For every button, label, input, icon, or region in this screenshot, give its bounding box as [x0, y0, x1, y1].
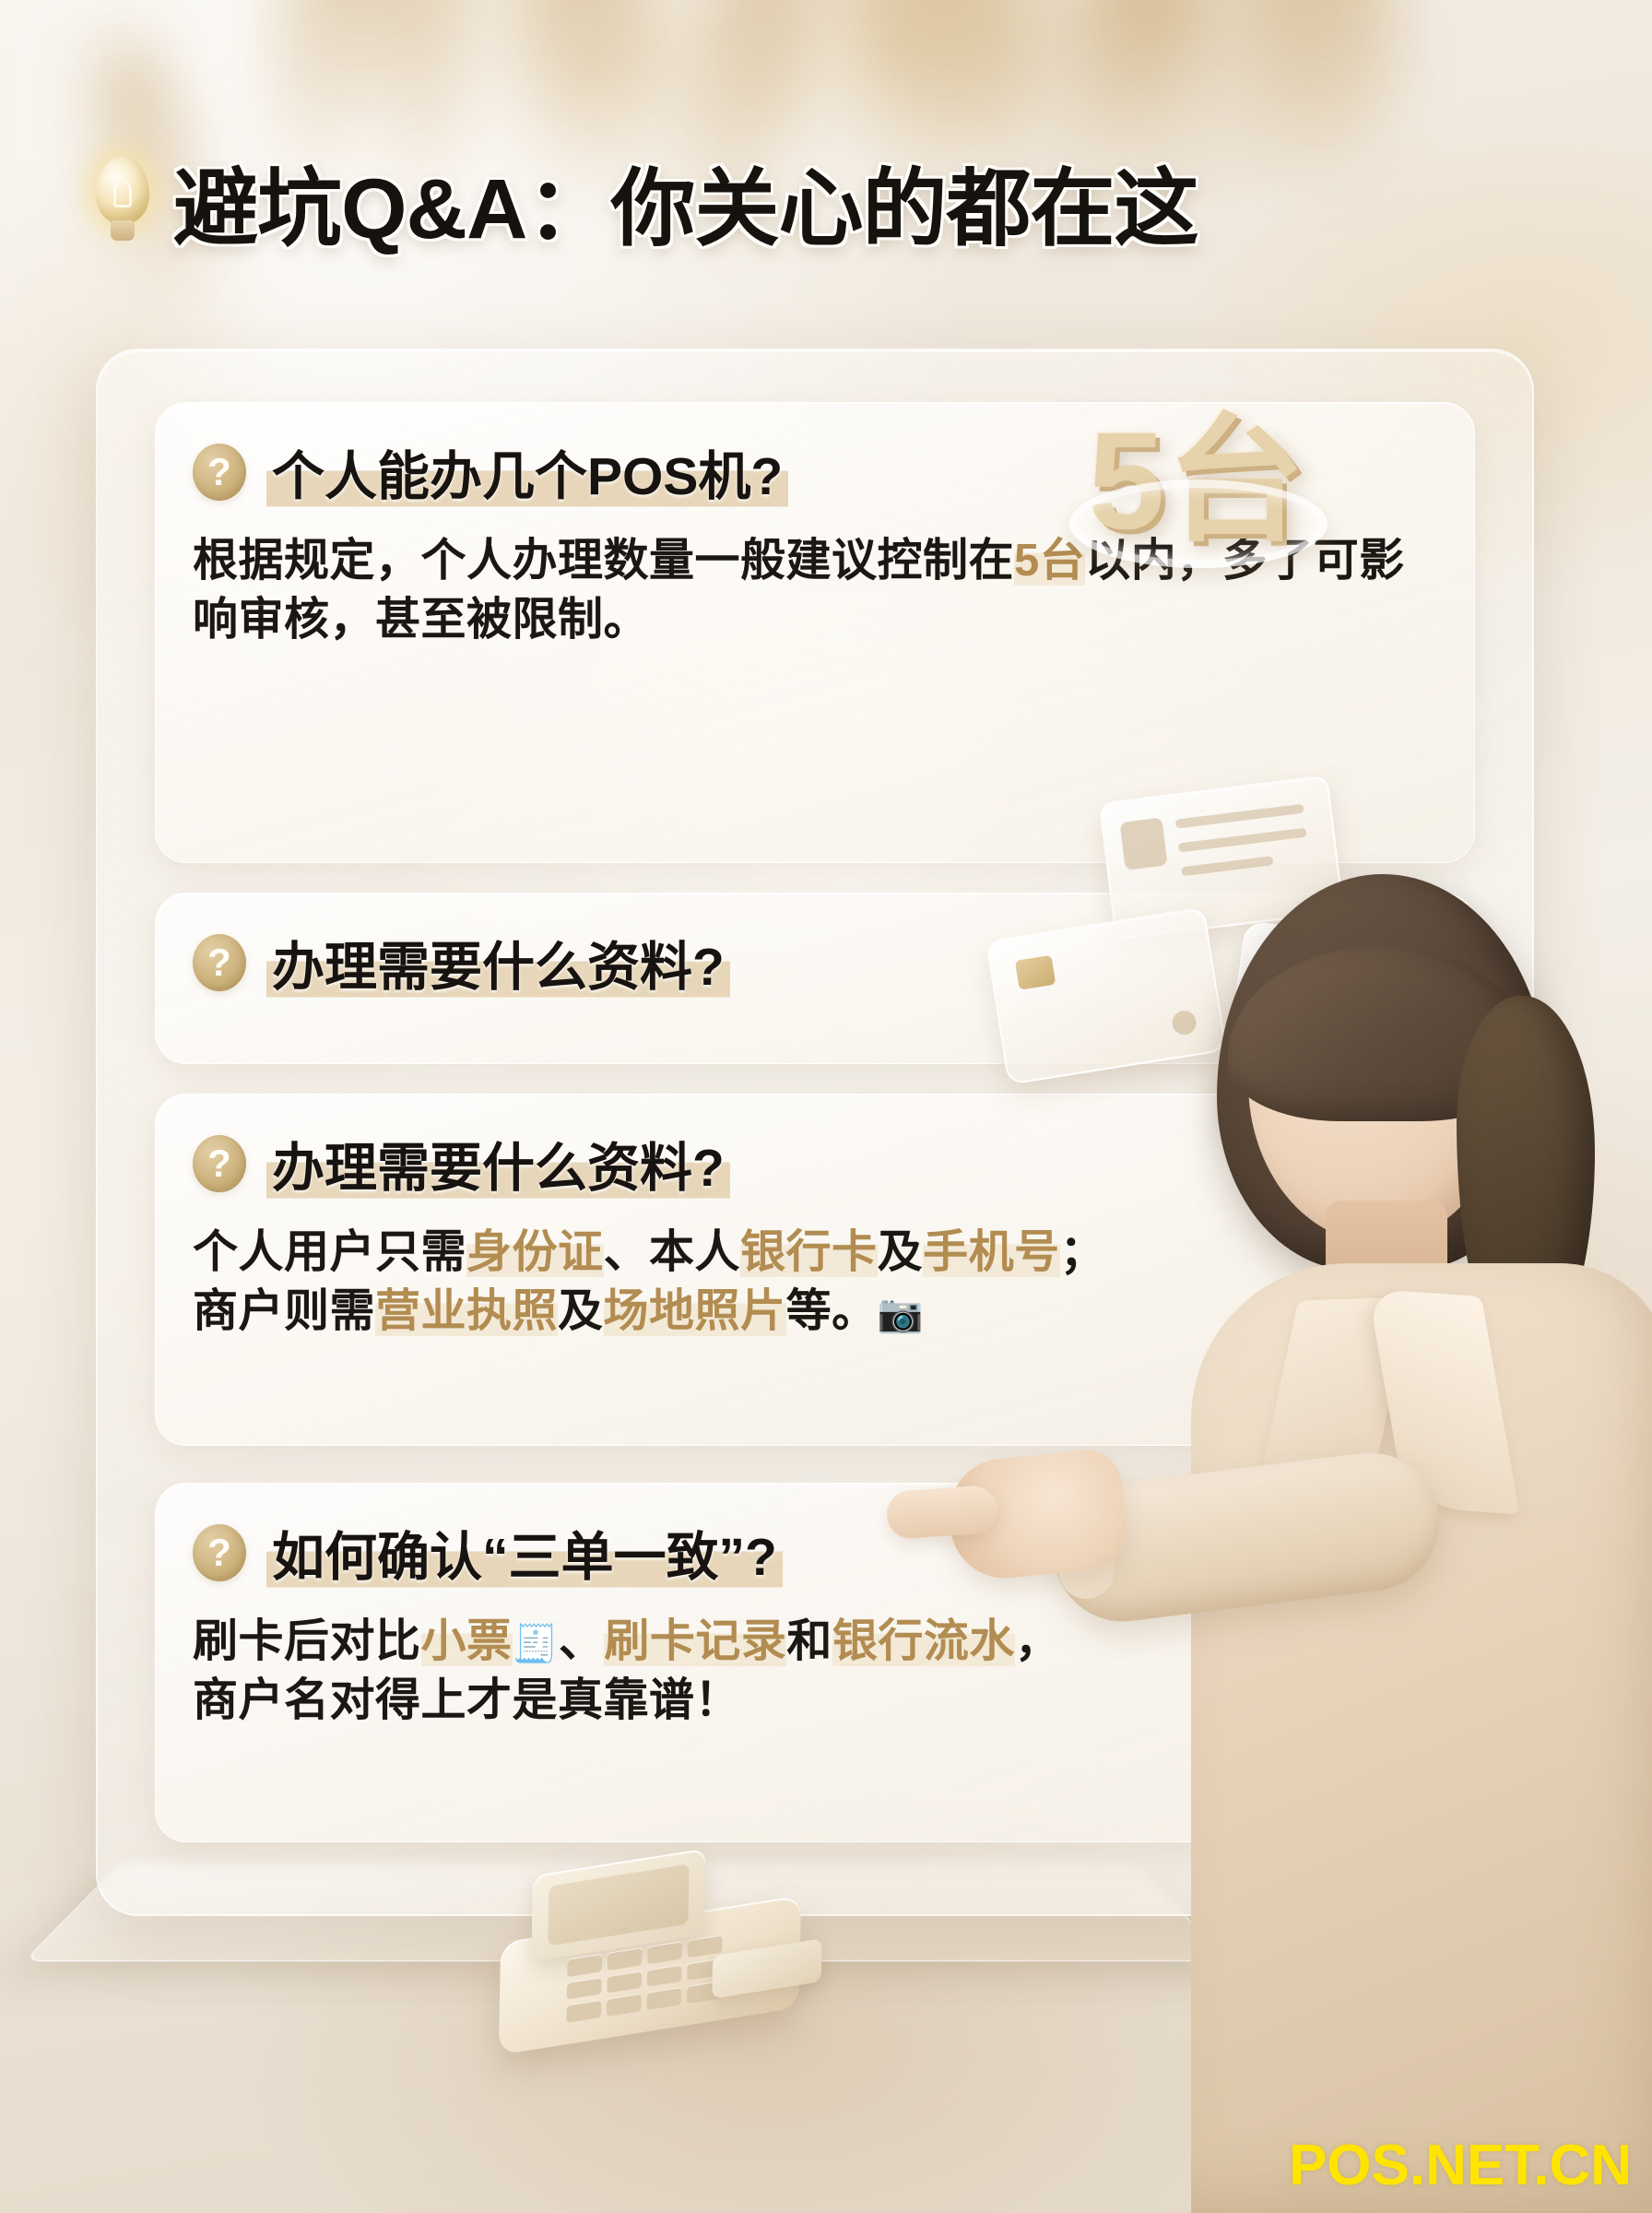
answer-run: 、 [559, 1616, 605, 1666]
pos-terminal-3d-object [498, 1844, 894, 2047]
faq-answer-1: 根据规定，个人办理数量一般建议控制在5台以内，多了可影响审核，甚至被限制。 [193, 532, 1437, 649]
faq-card-1[interactable]: ? 个人能办几个POS机? 根据规定，个人办理数量一般建议控制在5台以内，多了可… [155, 402, 1475, 863]
answer-run: 等。 [786, 1286, 878, 1336]
page-header: 避坑Q&A：你关心的都在这 [88, 140, 1198, 263]
watermark: POS.NET.CN [1289, 2133, 1632, 2198]
answer-highlight-swiperecord: 刷卡记录 [604, 1616, 786, 1666]
answer-highlight-license: 营业执照 [375, 1286, 558, 1336]
faq-question-2: 办理需要什么资料? [266, 925, 730, 1000]
answer-highlight-5units: 5台 [1014, 536, 1085, 586]
answer-highlight-phone: 手机号 [923, 1227, 1060, 1277]
answer-run: 个人用户只需 [193, 1227, 466, 1277]
answer-highlight-receipt: 小票 [421, 1616, 513, 1666]
answer-run: 商户名对得上才是真靠谱！ [193, 1675, 740, 1725]
answer-run: 商户则需 [193, 1286, 375, 1336]
answer-run: 及 [878, 1227, 924, 1277]
faq-question-3: 办理需要什么资料? [266, 1126, 730, 1201]
answer-run: 根据规定，个人办理数量一般建议控制在 [193, 536, 1014, 586]
faq-question-row: ? 办理需要什么资料? [193, 1126, 1437, 1201]
faq-card-3[interactable]: ? 办理需要什么资料? 个人用户只需身份证、本人银行卡及手机号； 商户则需营业执… [155, 1094, 1475, 1446]
answer-run: ； [1060, 1227, 1106, 1277]
receipt-icon: 🧾 [513, 1624, 559, 1664]
answer-run: 及 [558, 1286, 604, 1336]
faq-question-row: ? 如何确认“三单一致”? [193, 1515, 1437, 1591]
faq-question-row: ? 个人能办几个POS机? [193, 434, 1437, 510]
answer-highlight-bankstatement: 银行流水 [832, 1616, 1015, 1666]
lightbulb-icon [88, 156, 157, 248]
answer-highlight-sitephoto: 场地照片 [604, 1286, 786, 1336]
question-mark-badge-icon: ? [193, 934, 246, 991]
question-mark-badge-icon: ? [193, 1135, 246, 1192]
faq-answer-3: 个人用户只需身份证、本人银行卡及手机号； 商户则需营业执照及场地照片等。📷 [193, 1224, 1437, 1341]
answer-run: 和 [786, 1616, 832, 1666]
answer-run: ， [1015, 1616, 1061, 1666]
faq-card-4[interactable]: ? 如何确认“三单一致”? 刷卡后对比小票🧾、刷卡记录和银行流水， 商户名对得上… [155, 1483, 1475, 1842]
faq-card-2[interactable]: ? 办理需要什么资料? [155, 893, 1475, 1064]
answer-highlight-bankcard: 银行卡 [740, 1227, 878, 1277]
answer-highlight-id: 身份证 [466, 1227, 604, 1277]
answer-run: 刷卡后对比 [193, 1616, 421, 1666]
faq-answer-4: 刷卡后对比小票🧾、刷卡记录和银行流水， 商户名对得上才是真靠谱！ [193, 1613, 1437, 1730]
question-mark-badge-icon: ? [193, 1524, 246, 1581]
faq-question-4: 如何确认“三单一致”? [266, 1515, 783, 1591]
faq-question-1: 个人能办几个POS机? [266, 434, 788, 510]
question-mark-badge-icon: ? [193, 444, 246, 501]
page-title: 避坑Q&A：你关心的都在这 [173, 140, 1198, 263]
faq-question-row: ? 办理需要什么资料? [193, 925, 1437, 1000]
camera-icon: 📷 [878, 1294, 924, 1334]
answer-run: 、本人 [604, 1227, 741, 1277]
